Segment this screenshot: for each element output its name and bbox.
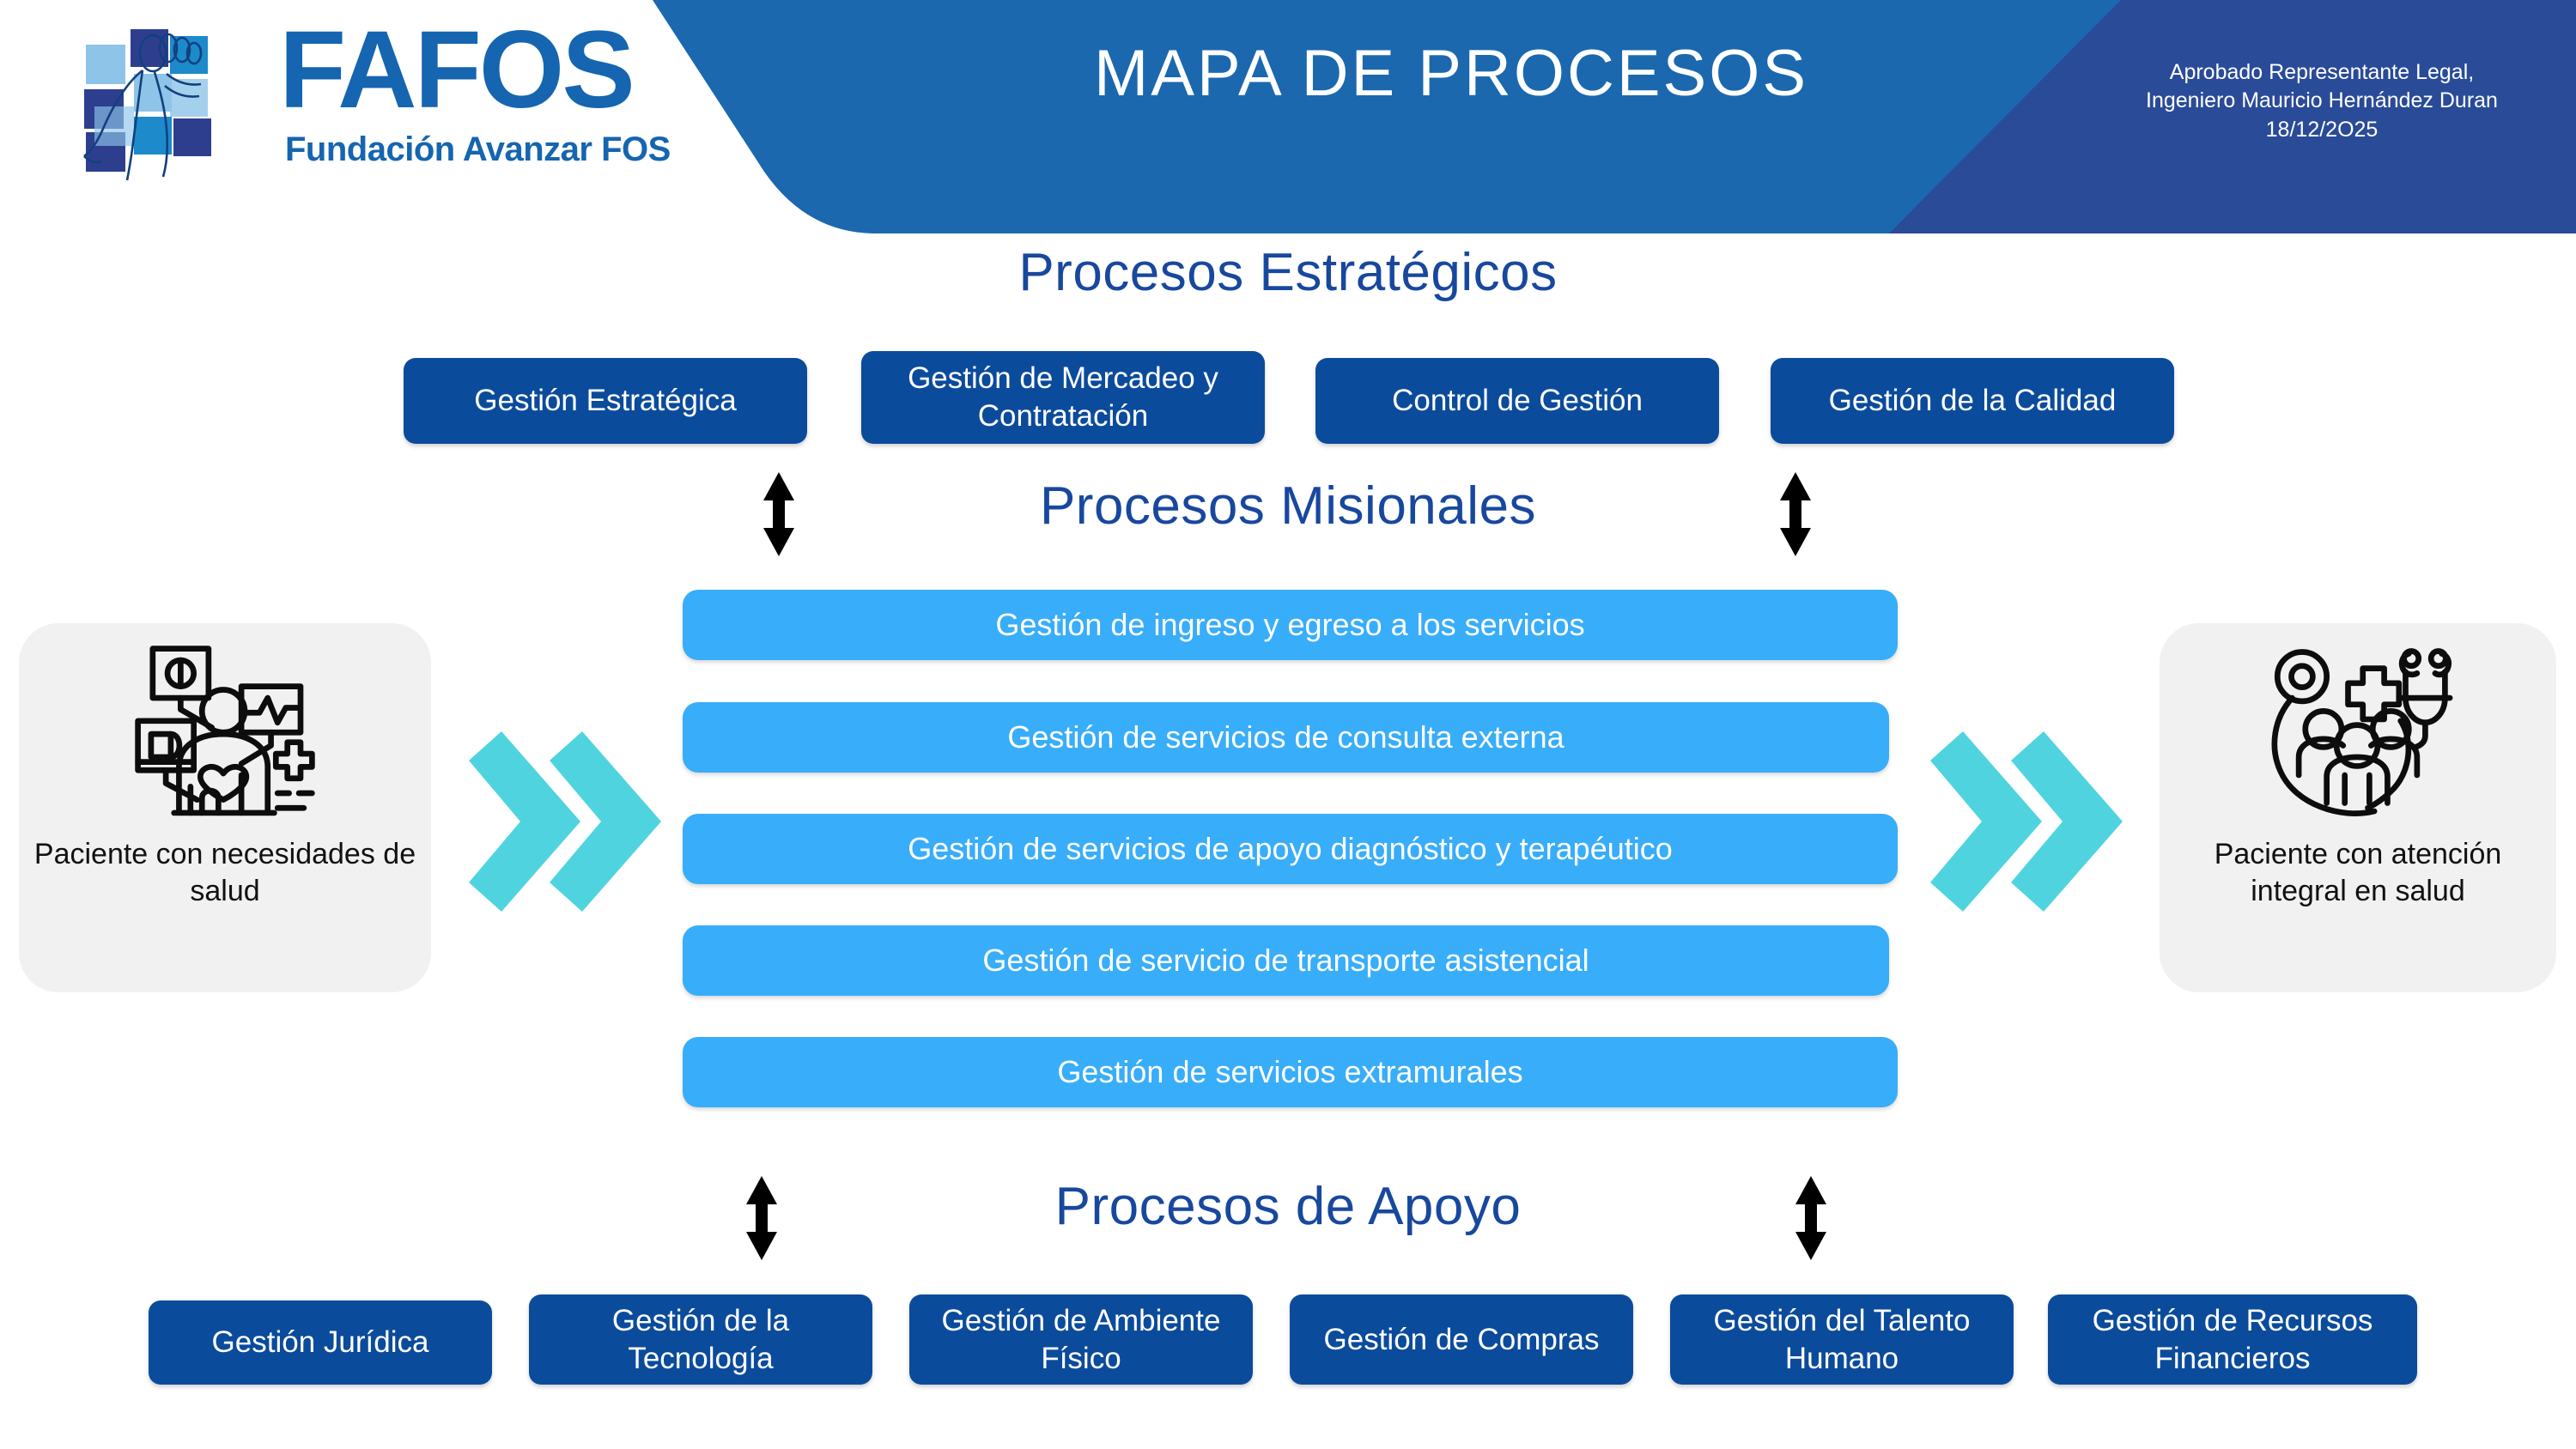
approval-line-2: Ingeniero Mauricio Hernández Duran <box>2099 87 2545 115</box>
process-box-gestion-juridica[interactable]: Gestión Jurídica <box>149 1300 492 1385</box>
process-box-gestion-ambiente-fisico[interactable]: Gestión de Ambiente Físico <box>909 1294 1253 1385</box>
fafos-logo-mark-icon <box>60 22 275 185</box>
double-chevron-right-icon <box>453 723 677 920</box>
process-box-gestion-compras[interactable]: Gestión de Compras <box>1290 1294 1633 1385</box>
double-chevron-right-icon <box>1915 723 2138 920</box>
output-card-paciente-atencion: Paciente con atención integral en salud <box>2160 623 2556 992</box>
integral-care-icon <box>2259 642 2457 831</box>
approval-line-3: 18/12/2O25 <box>2099 116 2545 144</box>
input-card-paciente-necesidades: Paciente con necesidades de salud <box>19 623 431 992</box>
process-map-canvas: MAPA DE PROCESOS Aprobado Representante … <box>0 0 2576 1449</box>
page-title: MAPA DE PROCESOS <box>945 36 1958 111</box>
section-title-estrategicos: Procesos Estratégicos <box>0 242 2576 303</box>
fafos-logo: FAFOS Fundación Avanzar FOS <box>60 19 747 182</box>
section-title-apoyo: Procesos de Apoyo <box>0 1176 2576 1237</box>
process-box-gestion-recursos-financieros[interactable]: Gestión de Recursos Financieros <box>2048 1294 2417 1385</box>
process-box-apoyo-diagnostico-terapeutico[interactable]: Gestión de servicios de apoyo diagnóstic… <box>683 814 1898 884</box>
double-headed-vertical-arrow-icon <box>759 472 799 556</box>
output-card-label: Paciente con atención integral en salud <box>2160 836 2556 909</box>
double-headed-vertical-arrow-icon <box>1776 472 1815 556</box>
process-box-control-de-gestion[interactable]: Control de Gestión <box>1315 358 1719 444</box>
approval-line-1: Aprobado Representante Legal, <box>2099 58 2545 87</box>
logo-subtitle: Fundación Avanzar FOS <box>285 132 671 167</box>
section-title-misionales: Procesos Misionales <box>0 476 2576 537</box>
double-headed-vertical-arrow-icon <box>1791 1176 1831 1260</box>
input-card-label: Paciente con necesidades de salud <box>19 836 431 909</box>
process-box-consulta-externa[interactable]: Gestión de servicios de consulta externa <box>683 702 1889 773</box>
process-box-transporte-asistencial[interactable]: Gestión de servicio de transporte asiste… <box>683 925 1889 996</box>
logo-wordmark: FAFOS <box>279 15 633 125</box>
process-box-ingreso-egreso-servicios[interactable]: Gestión de ingreso y egreso a los servic… <box>683 590 1898 660</box>
process-box-gestion-de-la-calidad[interactable]: Gestión de la Calidad <box>1771 358 2174 444</box>
approval-note: Aprobado Representante Legal, Ingeniero … <box>2099 58 2545 144</box>
process-box-gestion-talento-humano[interactable]: Gestión del Talento Humano <box>1670 1294 2014 1385</box>
process-box-gestion-mercadeo-contratacion[interactable]: Gestión de Mercadeo y Contratación <box>861 351 1265 444</box>
process-box-servicios-extramurales[interactable]: Gestión de servicios extramurales <box>683 1037 1898 1107</box>
process-box-gestion-estrategica[interactable]: Gestión Estratégica <box>404 358 807 444</box>
process-box-gestion-tecnologia[interactable]: Gestión de la Tecnología <box>529 1294 872 1385</box>
patient-needs-icon <box>126 642 324 831</box>
double-headed-vertical-arrow-icon <box>742 1176 781 1260</box>
